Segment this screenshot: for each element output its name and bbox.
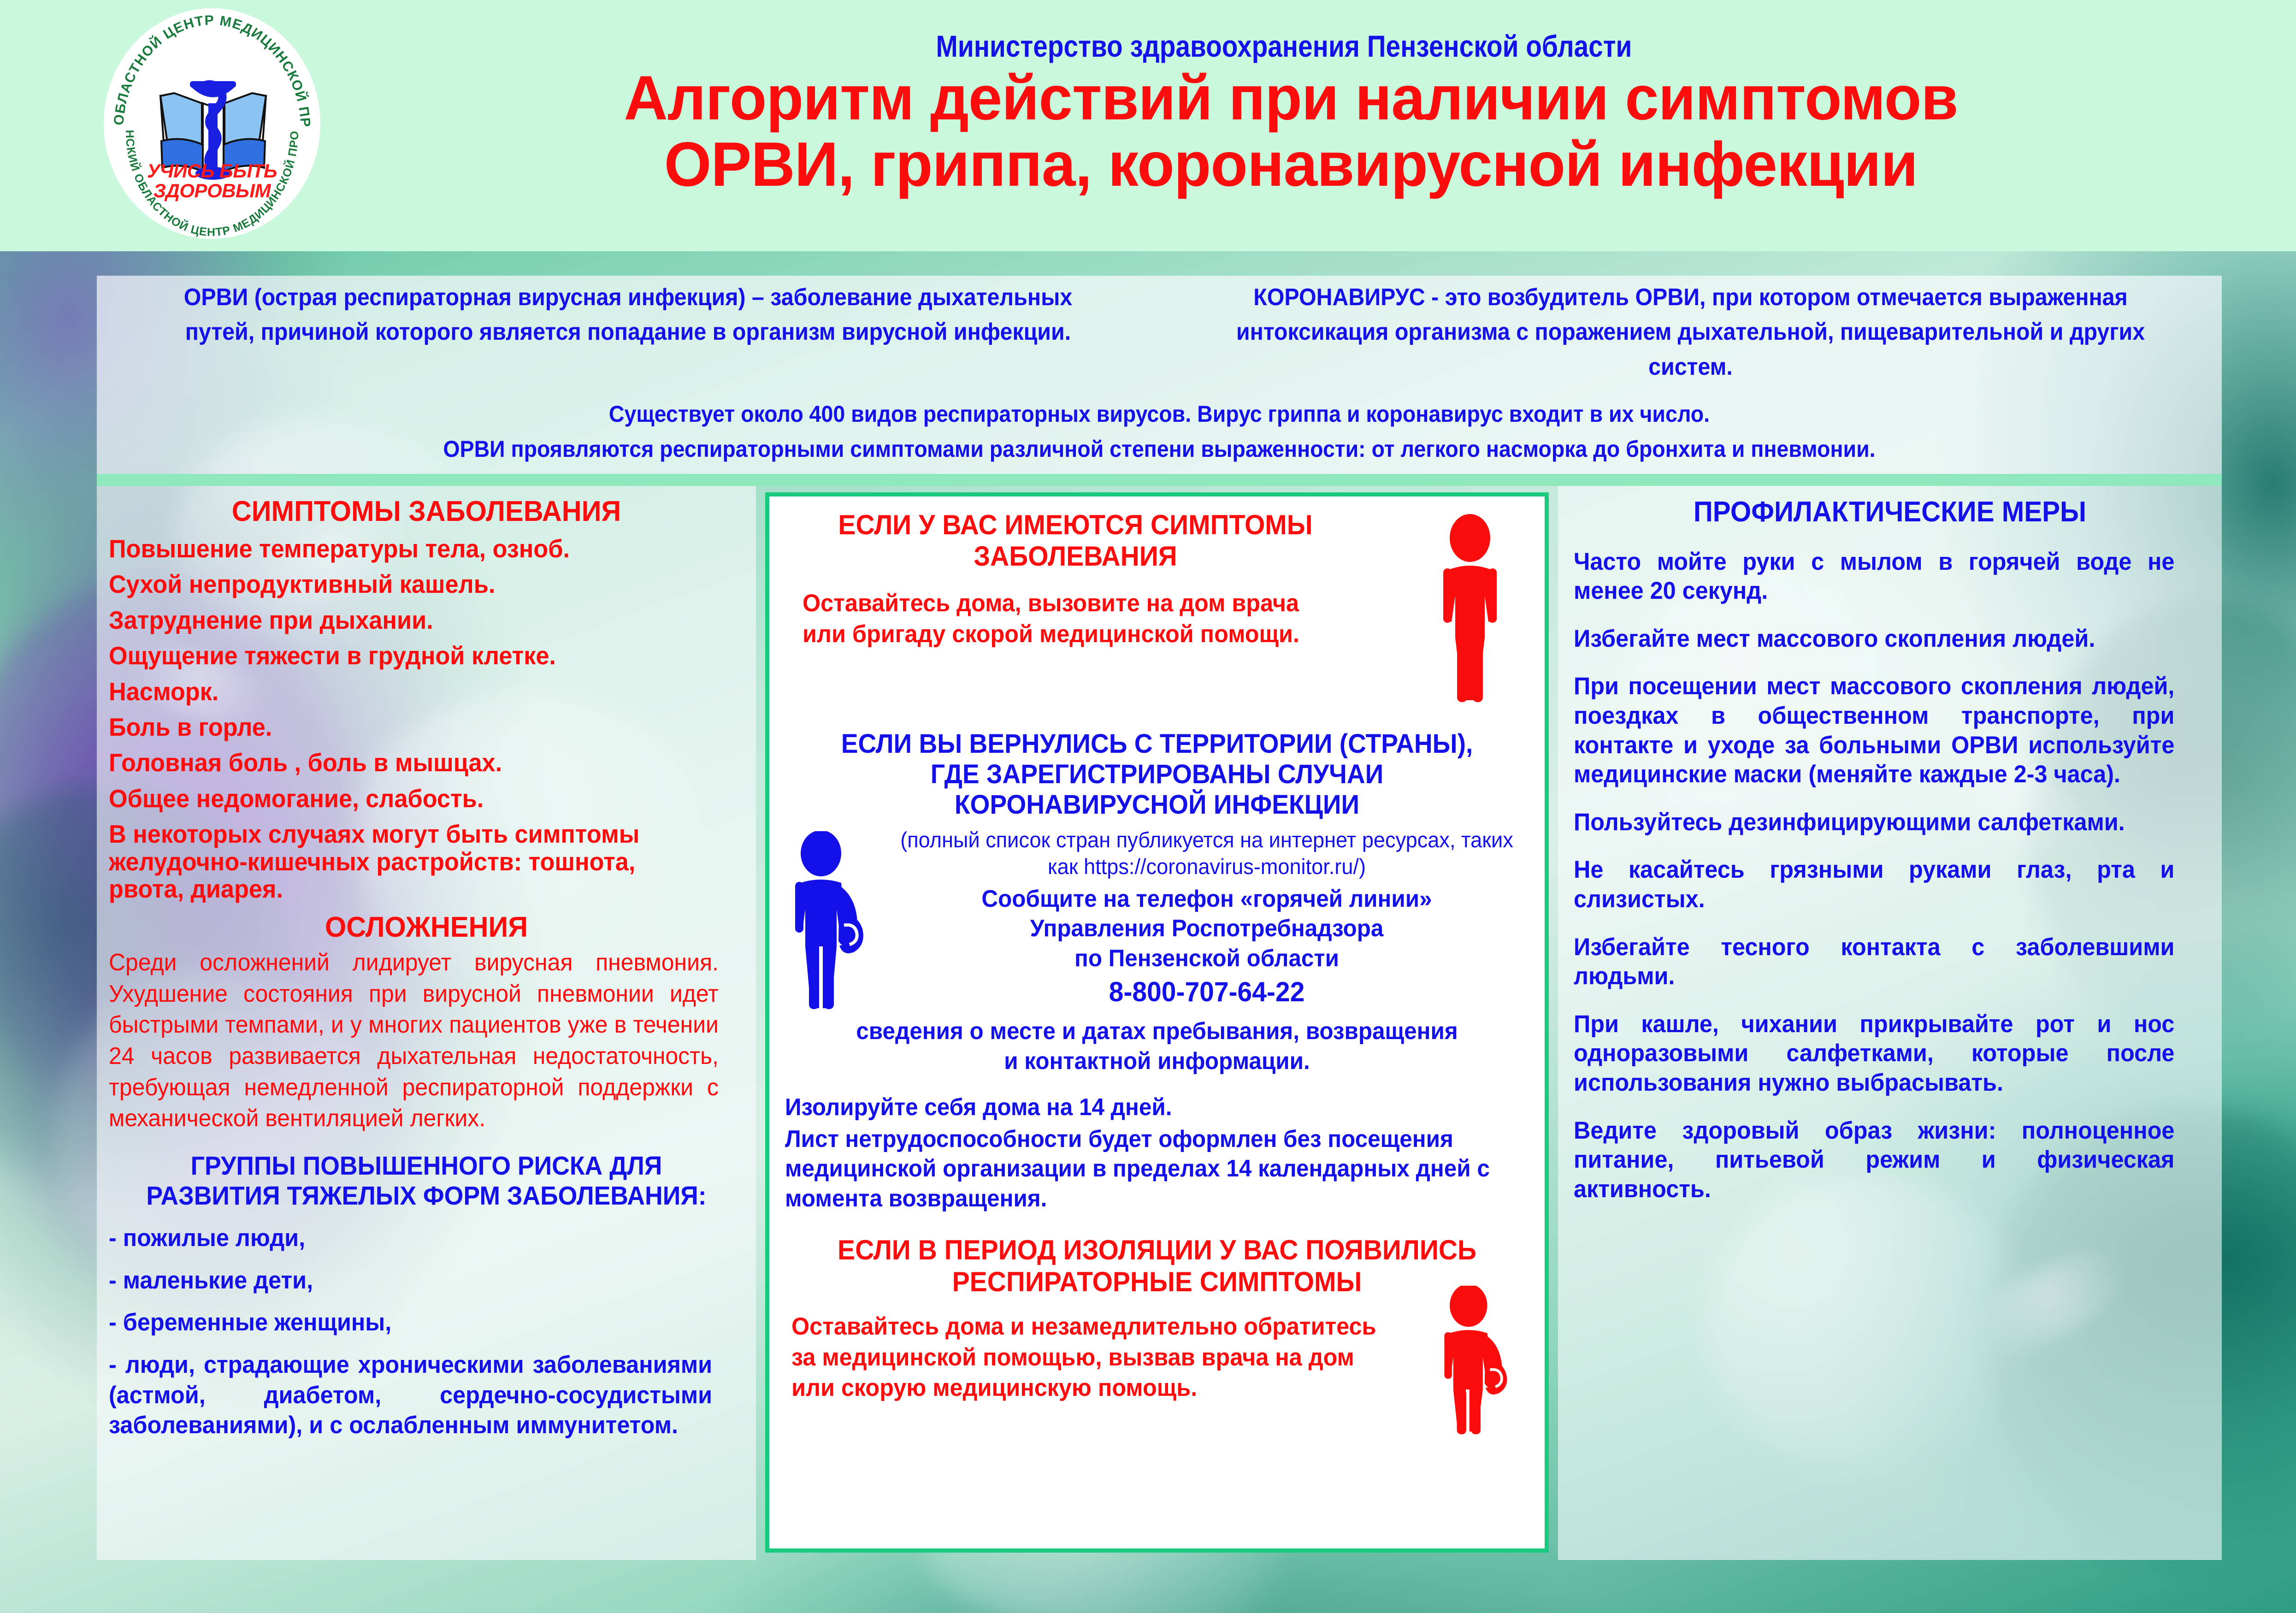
ministry-subtitle: Министерство здравоохранения Пензенской … [457,29,2111,64]
risk-group-item: - люди, страдающие хроническими заболева… [109,1350,712,1441]
center-block3-heading-line1: ЕСЛИ В ПЕРИОД ИЗОЛЯЦИИ У ВАС ПОЯВИЛИСЬ [803,1235,1510,1266]
center-block1-body: Оставайтесь дома, вызовите на дом врача … [785,588,1337,650]
logo-motto: УЧИСЬ БЫТЬ ЗДОРОВЫМ [104,161,320,201]
center-block3-body: Оставайтесь дома и незамедлительно обрат… [791,1312,1400,1404]
center-block2-heading: ЕСЛИ ВЫ ВЕРНУЛИСЬ С ТЕРРИТОРИИ (СТРАНЫ),… [803,729,1510,820]
center-block2-heading-line1: ЕСЛИ ВЫ ВЕРНУЛИСЬ С ТЕРРИТОРИИ (СТРАНЫ), [803,729,1510,759]
risk-groups-heading-line1: ГРУППЫ ПОВЫШЕННОГО РИСКА ДЛЯ [128,1151,725,1181]
intro-orvi-definition: ОРВИ (острая респираторная вирусная инфе… [134,280,1122,384]
center-block3-heading-line2: РЕСПИРАТОРНЫЕ СИМПТОМЫ [803,1266,1510,1298]
page-title-line1: Алгоритм действий при наличии симптомов [352,65,2230,131]
preventive-measure-item: Избегайте тесного контакта с заболевшими… [1574,933,2174,991]
intro-fact-line2: ОРВИ проявляются респираторными симптома… [171,431,2147,467]
center-block1-heading-line1: ЕСЛИ У ВАС ИМЕЮТСЯ СИМПТОМЫ [800,509,1352,541]
center-block2-note: (полный список стран публикуется на инте… [897,827,1516,880]
risk-group-item: - пожилые люди, [109,1223,712,1253]
center-block2-report-line3: по Пензенской области [901,944,1513,973]
risk-group-item: - маленькие дети, [109,1265,712,1296]
logo-motto-line1: УЧИСЬ БЫТЬ [104,161,320,181]
risk-group-item: - беременные женщины, [109,1307,712,1338]
intro-divider [97,474,2222,486]
intro-fact-line1: Существует около 400 видов респираторных… [171,396,2147,431]
preventive-measure-item: При кашле, чихании прикрывайте рот и нос… [1574,1010,2174,1098]
center-block2-info-line1: сведения о месте и датах пребывания, воз… [803,1016,1510,1046]
intro-general-facts: Существует около 400 видов респираторных… [171,396,2147,467]
symptom-item: Насморк. [109,678,712,705]
preventive-measure-item: Ведите здоровый образ жизни: полноценное… [1574,1116,2174,1204]
center-block-returned-traveler: ЕСЛИ ВЫ ВЕРНУЛИСЬ С ТЕРРИТОРИИ (СТРАНЫ),… [785,729,1529,1213]
symptom-item: Затруднение при дыхании. [109,607,712,634]
page-title: Алгоритм действий при наличии симптомов … [352,65,2230,197]
right-column: ПРОФИЛАКТИЧЕСКИЕ МЕРЫ Часто мойте руки с… [1558,486,2222,1560]
center-block2-report-line1: Сообщите на телефон «горячей линии» [901,884,1513,914]
hotline-phone-number: 8-800-707-64-22 [901,976,1513,1008]
intro-band: ОРВИ (острая респираторная вирусная инфе… [97,276,2222,474]
person-with-bag-red-icon [1432,1286,1529,1438]
center-block2-isolate-line1: Изолируйте себя дома на 14 дней. [785,1093,1492,1122]
organization-logo: ПЕНЗЕНСКИЙ ОБЛАСТНОЙ ЦЕНТР МЕДИЦИНСКОЙ П… [104,8,320,239]
page-title-line2: ОРВИ, гриппа, коронавирусной инфекции [352,131,2230,197]
symptom-item: Сухой непродуктивный кашель. [109,571,712,598]
poster-root: ПЕНЗЕНСКИЙ ОБЛАСТНОЙ ЦЕНТР МЕДИЦИНСКОЙ П… [0,0,2296,1613]
symptoms-heading: СИМПТОМЫ ЗАБОЛЕВАНИЯ [122,495,732,528]
preventive-measure-item: Избегайте мест массового скопления людей… [1574,624,2174,654]
center-block-symptoms: ЕСЛИ У ВАС ИМЕЮТСЯ СИМПТОМЫ ЗАБОЛЕВАНИЯ … [785,509,1529,726]
symptom-item: Ощущение тяжести в грудной клетке. [109,642,712,669]
intro-coronavirus-definition: КОРОНАВИРУС - это возбудитель ОРВИ, при … [1197,280,2185,384]
center-block3-heading: ЕСЛИ В ПЕРИОД ИЗОЛЯЦИИ У ВАС ПОЯВИЛИСЬ Р… [803,1235,1510,1298]
center-block2-heading-line2: ГДЕ ЗАРЕГИСТРИРОВАНЫ СЛУЧАИ [803,759,1510,790]
risk-groups-heading: ГРУППЫ ПОВЫШЕННОГО РИСКА ДЛЯ РАЗВИТИЯ ТЯ… [128,1151,725,1211]
symptom-item: В некоторых случаях могут быть симптомы … [109,821,712,903]
preventive-measures-heading: ПРОФИЛАКТИЧЕСКИЕ МЕРЫ [1593,496,2187,529]
intro-definitions: ОРВИ (острая респираторная вирусная инфе… [97,280,2222,384]
center-block2-info-line2: и контактной информации. [803,1046,1510,1076]
person-with-bag-blue-icon [785,831,882,1016]
complications-text: Среди осложнений лидирует вирусная пневм… [109,947,719,1134]
header-band: ПЕНЗЕНСКИЙ ОБЛАСТНОЙ ЦЕНТР МЕДИЦИНСКОЙ П… [0,0,2296,251]
center-block2-isolate-line2: Лист нетрудоспособности будет оформлен б… [785,1124,1492,1213]
complications-heading: ОСЛОЖНЕНИЯ [122,911,732,944]
preventive-measure-item: Пользуйтесь дезинфицирующими салфетками. [1574,808,2174,837]
symptom-item: Общее недомогание, слабость. [109,785,712,812]
standing-person-red-icon [1424,514,1516,708]
symptom-item: Боль в горле. [109,714,712,741]
left-column: СИМПТОМЫ ЗАБОЛЕВАНИЯ Повышение температу… [97,486,756,1560]
center-block1-heading: ЕСЛИ У ВАС ИМЕЮТСЯ СИМПТОМЫ ЗАБОЛЕВАНИЯ [800,509,1352,573]
center-block-isolation-symptoms: ЕСЛИ В ПЕРИОД ИЗОЛЯЦИИ У ВАС ПОЯВИЛИСЬ Р… [785,1235,1529,1438]
symptom-item: Повышение температуры тела, озноб. [109,535,712,562]
preventive-measure-item: При посещении мест массового скопления л… [1574,672,2174,789]
symptom-item: Головная боль , боль в мышцах. [109,749,712,776]
center-block1-heading-line2: ЗАБОЛЕВАНИЯ [800,541,1352,572]
center-algorithm-panel: ЕСЛИ У ВАС ИМЕЮТСЯ СИМПТОМЫ ЗАБОЛЕВАНИЯ … [765,492,1549,1553]
risk-groups-heading-line2: РАЗВИТИЯ ТЯЖЕЛЫХ ФОРМ ЗАБОЛЕВАНИЯ: [128,1181,725,1211]
center-block2-heading-line3: КОРОНАВИРУСНОЙ ИНФЕКЦИИ [803,790,1510,820]
preventive-measure-item: Не касайтесь грязными руками глаз, рта и… [1574,855,2174,914]
preventive-measure-item: Часто мойте руки с мылом в горячей воде … [1574,547,2174,606]
center-block2-report-line2: Управления Роспотребнадзора [901,914,1513,943]
logo-motto-line2: ЗДОРОВЫМ [104,181,320,201]
